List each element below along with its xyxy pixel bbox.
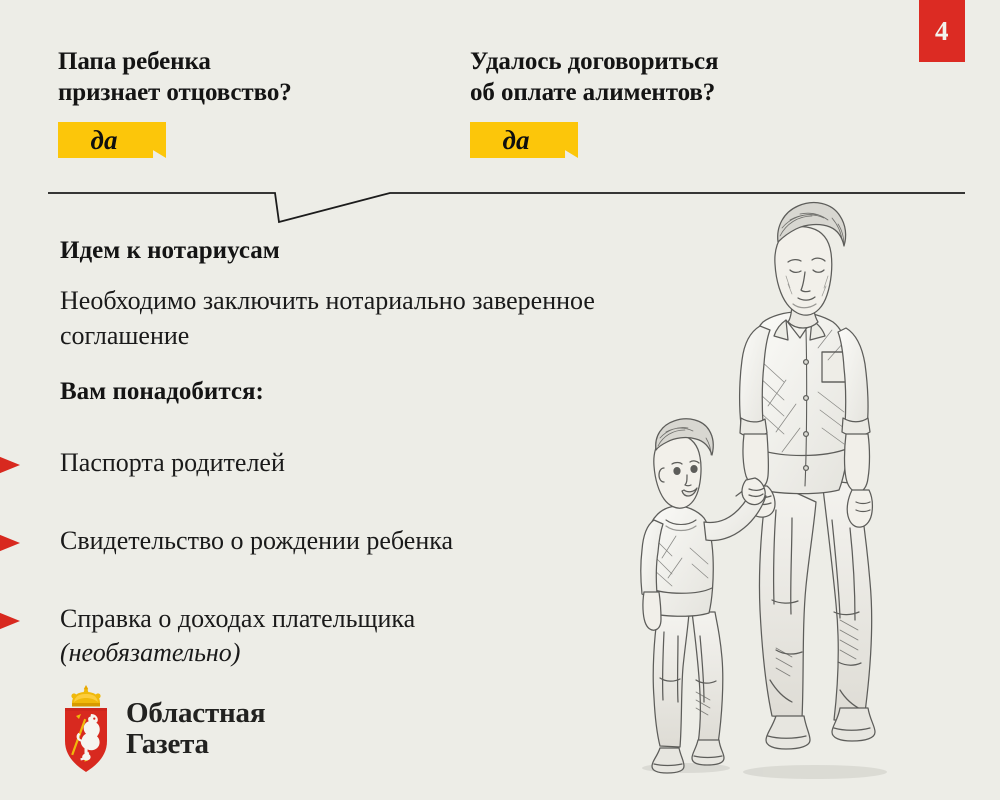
body-block: Идем к нотариусам Необходимо заключить н… — [60, 236, 660, 419]
infographic-page: 4 Папа ребенка признает отцовство? да Уд… — [0, 0, 1000, 800]
section-heading: Идем к нотариусам — [60, 236, 660, 266]
arrow-right-icon — [0, 608, 20, 634]
question-block-2: Удалось договориться об оплате алиментов… — [470, 46, 870, 158]
child-hair — [656, 419, 714, 455]
question-2-line-2: об оплате алиментов? — [470, 79, 715, 106]
question-2-text: Удалось договориться об оплате алиментов… — [470, 46, 870, 108]
document-label: Свидетельство о рождении ребенка — [60, 524, 660, 558]
father-shirt — [747, 312, 852, 494]
father-arm-left — [740, 326, 770, 427]
father-head — [775, 227, 832, 316]
child-shoe-left — [652, 748, 684, 773]
coat-of-arms-icon — [58, 683, 114, 775]
child-head — [654, 434, 701, 508]
step-number: 4 — [935, 18, 949, 45]
father-eyebrow-left — [788, 260, 801, 262]
father-eyebrow-right — [812, 258, 825, 261]
question-1-line-1: Папа ребенка — [58, 48, 211, 75]
connector-path — [48, 193, 965, 222]
questions-row: Папа ребенка признает отцовство? да Удал… — [0, 46, 1000, 176]
publisher-logo: Областная Газета — [58, 683, 265, 775]
father-and-son-illustration — [600, 180, 1000, 800]
list-item: Паспорта родителей — [0, 446, 660, 486]
section-description: Необходимо заключить нотариально заверен… — [60, 284, 660, 353]
father-mouth — [798, 297, 815, 300]
document-label: Паспорта родителей — [60, 446, 660, 480]
father-eye-right — [813, 270, 824, 272]
question-1-line-2: признает отцовство? — [58, 79, 292, 106]
answer-ribbon-2: да — [470, 122, 578, 158]
father-hand-right — [847, 490, 872, 527]
child-mouth — [682, 488, 697, 496]
sable-eye — [93, 718, 95, 720]
answer-ribbon-1: да — [58, 122, 166, 158]
ground-shadow — [642, 763, 887, 779]
child-shoe-right — [692, 740, 724, 765]
father-shoe-right — [832, 708, 875, 741]
documents-list: Паспорта родителей Свидетельство о рожде… — [0, 446, 660, 670]
arrow-right-icon — [0, 452, 20, 478]
arrow-right-icon — [0, 530, 20, 556]
father-figure — [740, 203, 875, 749]
logo-wordmark: Областная Газета — [126, 698, 265, 759]
child-eye-right — [691, 466, 697, 473]
father-shoe-left — [766, 716, 810, 749]
list-item: Свидетельство о рождении ребенка — [0, 524, 660, 564]
father-nose — [801, 272, 810, 292]
father-hair — [778, 203, 846, 246]
child-nose — [685, 475, 691, 486]
crown-shape — [71, 685, 100, 707]
requirements-heading: Вам понадобится: — [60, 377, 660, 407]
question-2-line-1: Удалось договориться — [470, 48, 718, 75]
logo-line-1: Областная — [126, 698, 265, 729]
document-note: (необязательно) — [60, 636, 660, 670]
logo-line-2: Газета — [126, 729, 265, 760]
child-eyebrow-left — [672, 463, 682, 465]
father-arm-right — [838, 328, 868, 429]
answer-2-label: да — [486, 122, 552, 158]
father-eye-left — [790, 270, 801, 272]
child-arm-right — [704, 488, 766, 541]
child-eyebrow-right — [690, 461, 699, 463]
question-1-text: Папа ребенка признает отцовство? — [58, 46, 458, 108]
list-item: Справка о доходах плательщика (необязате… — [0, 602, 660, 670]
flow-connector-divider — [0, 182, 1000, 230]
child-eye-left — [674, 468, 680, 475]
father-hand-left — [746, 486, 775, 517]
child-hand — [742, 478, 765, 505]
document-label: Справка о доходах плательщика — [60, 602, 660, 636]
question-block-1: Папа ребенка признает отцовство? да — [58, 46, 458, 158]
answer-1-label: да — [74, 122, 140, 158]
